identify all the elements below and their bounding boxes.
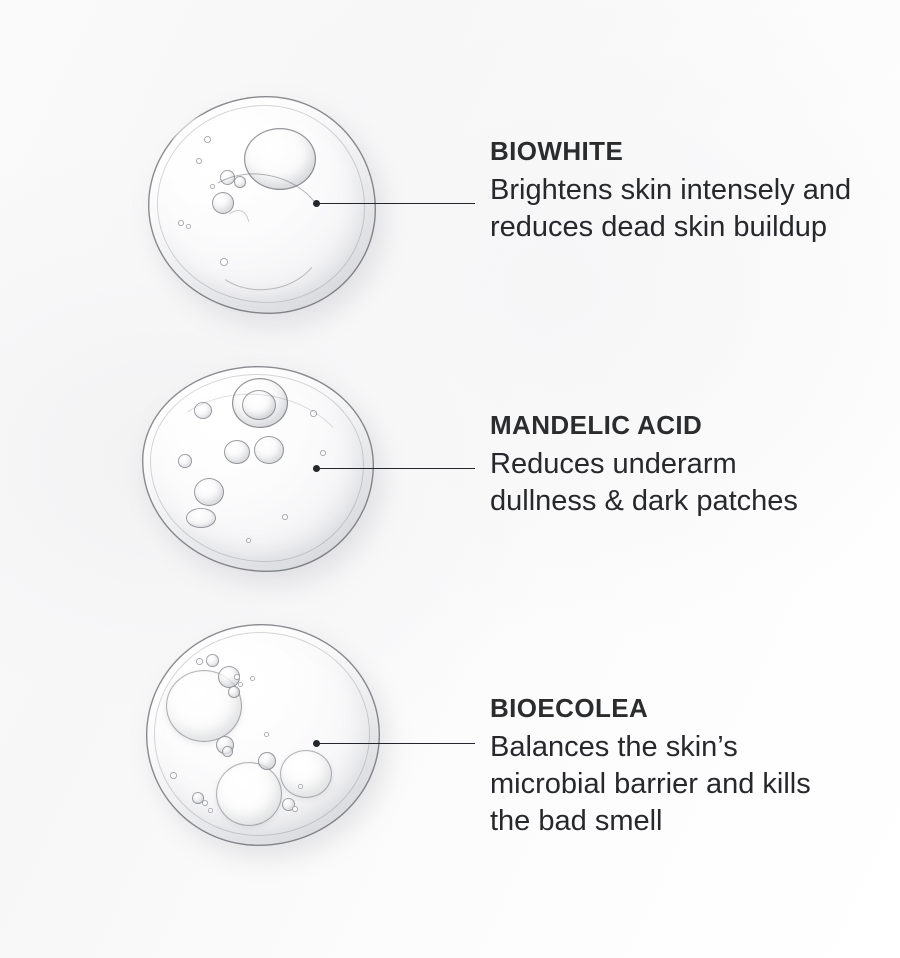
leader-line-mandelic-acid bbox=[313, 461, 475, 475]
description-line: dullness & dark patches bbox=[490, 483, 798, 520]
description-line: microbial barrier and kills bbox=[490, 766, 811, 803]
ingredient-heading-mandelic-acid: MANDELIC ACID bbox=[490, 411, 798, 440]
ingredient-heading-biowhite: BIOWHITE bbox=[490, 137, 851, 166]
description-line: Reduces underarm bbox=[490, 446, 798, 483]
ingredient-description-bioecolea: Balances the skin’s microbial barrier an… bbox=[490, 729, 811, 840]
ingredient-heading-bioecolea: BIOECOLEA bbox=[490, 694, 811, 723]
description-line: the bad smell bbox=[490, 803, 811, 840]
description-line: Brightens skin intensely and bbox=[490, 172, 851, 209]
description-line: Balances the skin’s bbox=[490, 729, 811, 766]
leader-stroke-biowhite bbox=[318, 203, 475, 205]
leader-line-biowhite bbox=[313, 196, 475, 210]
text-block-bioecolea: BIOECOLEA Balances the skin’s microbial … bbox=[490, 694, 811, 840]
description-line: reduces dead skin buildup bbox=[490, 209, 851, 246]
infographic-page: BIOWHITE Brightens skin intensely and re… bbox=[0, 0, 900, 958]
leader-stroke-mandelic-acid bbox=[318, 468, 475, 470]
text-block-mandelic-acid: MANDELIC ACID Reduces underarm dullness … bbox=[490, 411, 798, 520]
gel-droplet-bioecolea bbox=[146, 624, 380, 846]
text-block-biowhite: BIOWHITE Brightens skin intensely and re… bbox=[490, 137, 851, 246]
leader-stroke-bioecolea bbox=[318, 743, 475, 745]
ingredient-description-mandelic-acid: Reduces underarm dullness & dark patches bbox=[490, 446, 798, 520]
leader-line-bioecolea bbox=[313, 736, 475, 750]
ingredient-description-biowhite: Brightens skin intensely and reduces dea… bbox=[490, 172, 851, 246]
